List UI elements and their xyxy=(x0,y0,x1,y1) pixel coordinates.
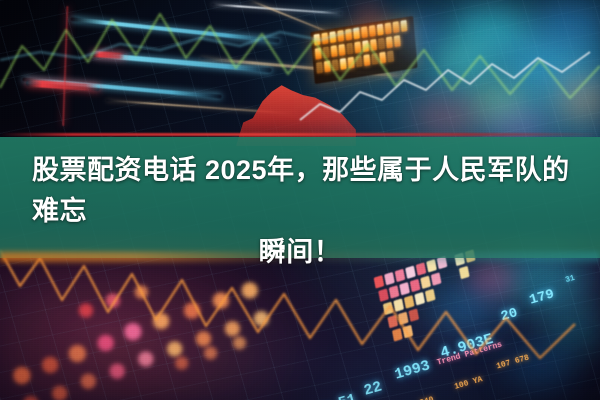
page-title: 股票配资电话 2025年，那些属于人民军队的难忘 瞬间！ xyxy=(0,150,600,273)
headline-line-2: 瞬间！ xyxy=(18,232,582,273)
banner-image: 172 51 22 1993 4.903E 20 179 31 340 100 … xyxy=(0,0,600,400)
band-top-rule xyxy=(0,133,600,136)
headline-line-1: 股票配资电话 2025年，那些属于人民军队的难忘 xyxy=(18,150,582,232)
